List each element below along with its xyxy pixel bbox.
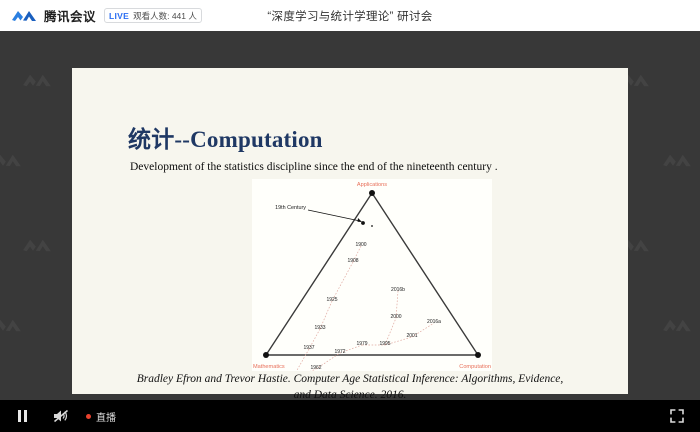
caption-line-1: Bradley Efron and Trevor Hastie. Compute… bbox=[72, 372, 628, 388]
data-point-label: 2000 bbox=[390, 314, 401, 320]
vertex-dot bbox=[475, 352, 481, 358]
vertex-dot bbox=[263, 352, 269, 358]
figure-caption: Bradley Efron and Trevor Hastie. Compute… bbox=[72, 372, 628, 400]
viewer-count: 观看人数: 441 人 bbox=[133, 10, 197, 22]
live-indicator: 直播 bbox=[86, 409, 116, 424]
annotation-target-dot bbox=[371, 225, 373, 227]
chart-canvas: ApplicationsMathematicsComputation19th C… bbox=[252, 179, 492, 371]
mute-button[interactable] bbox=[52, 408, 70, 424]
data-point-label: 1979 bbox=[356, 341, 367, 347]
triangle-outline bbox=[266, 193, 478, 355]
watermark-logo-icon bbox=[662, 151, 692, 175]
ternary-triangle-figure: ApplicationsMathematicsComputation19th C… bbox=[252, 179, 492, 371]
annotation-arrowhead bbox=[358, 218, 363, 222]
fullscreen-icon bbox=[670, 409, 684, 423]
live-stream-player: 腾讯会议 LIVE 观看人数: 441 人 “深度学习与统计学理论” 研讨会 bbox=[0, 0, 700, 432]
player-controls: 直播 bbox=[0, 400, 700, 432]
data-point-label: 1962 bbox=[310, 365, 321, 371]
watermark-logo-icon bbox=[662, 316, 692, 340]
live-dot-icon bbox=[86, 414, 91, 419]
watermark-logo-icon bbox=[0, 316, 22, 340]
data-point-label: 2001 bbox=[406, 333, 417, 339]
corner-label: Computation bbox=[459, 364, 491, 370]
vertex-dot bbox=[369, 190, 375, 196]
data-point-label: 1933 bbox=[314, 325, 325, 331]
data-point-label: 1937 bbox=[303, 345, 314, 351]
tencent-meeting-logo-icon bbox=[11, 8, 37, 24]
live-badge: LIVE bbox=[109, 11, 129, 21]
app-header: 腾讯会议 LIVE 观看人数: 441 人 “深度学习与统计学理论” 研讨会 bbox=[0, 0, 700, 31]
corner-label: Applications bbox=[357, 182, 387, 188]
live-status-pill: LIVE 观看人数: 441 人 bbox=[104, 8, 202, 23]
slide-subtitle: Development of the statistics discipline… bbox=[130, 161, 498, 173]
data-point-label: 1995 bbox=[379, 341, 390, 347]
annotation-arrow bbox=[308, 210, 360, 221]
brand-name: 腾讯会议 bbox=[44, 6, 96, 25]
data-point-label: 1900 bbox=[355, 242, 366, 248]
data-point-label: 2016a bbox=[427, 319, 441, 325]
video-stage[interactable]: 统计--Computation Development of the stati… bbox=[0, 31, 700, 400]
fullscreen-button[interactable] bbox=[670, 409, 684, 423]
watermark-logo-icon bbox=[22, 236, 52, 260]
pause-icon bbox=[18, 410, 21, 422]
caption-line-2: and Data Science. 2016. bbox=[72, 388, 628, 400]
speaker-muted-icon bbox=[52, 408, 70, 424]
chart-annotation: 19th Century bbox=[275, 205, 306, 211]
pause-icon bbox=[24, 410, 27, 422]
corner-label: Mathematics bbox=[253, 364, 285, 370]
data-point-label: 1925 bbox=[326, 297, 337, 303]
presentation-slide: 统计--Computation Development of the stati… bbox=[72, 68, 628, 394]
brand-area: 腾讯会议 LIVE 观看人数: 441 人 bbox=[0, 6, 202, 25]
data-point-label: 2016b bbox=[391, 287, 405, 293]
trail-segment bbox=[292, 349, 309, 371]
watermark-logo-icon bbox=[22, 71, 52, 95]
trail-segment bbox=[332, 262, 353, 301]
slide-title: 统计--Computation bbox=[128, 120, 323, 154]
data-point-label: 1908 bbox=[347, 258, 358, 264]
data-point-label: 1972 bbox=[334, 349, 345, 355]
pause-button[interactable] bbox=[14, 408, 30, 424]
watermark-logo-icon bbox=[0, 151, 22, 175]
live-label: 直播 bbox=[96, 409, 116, 424]
annotation-target-dot bbox=[361, 221, 365, 225]
